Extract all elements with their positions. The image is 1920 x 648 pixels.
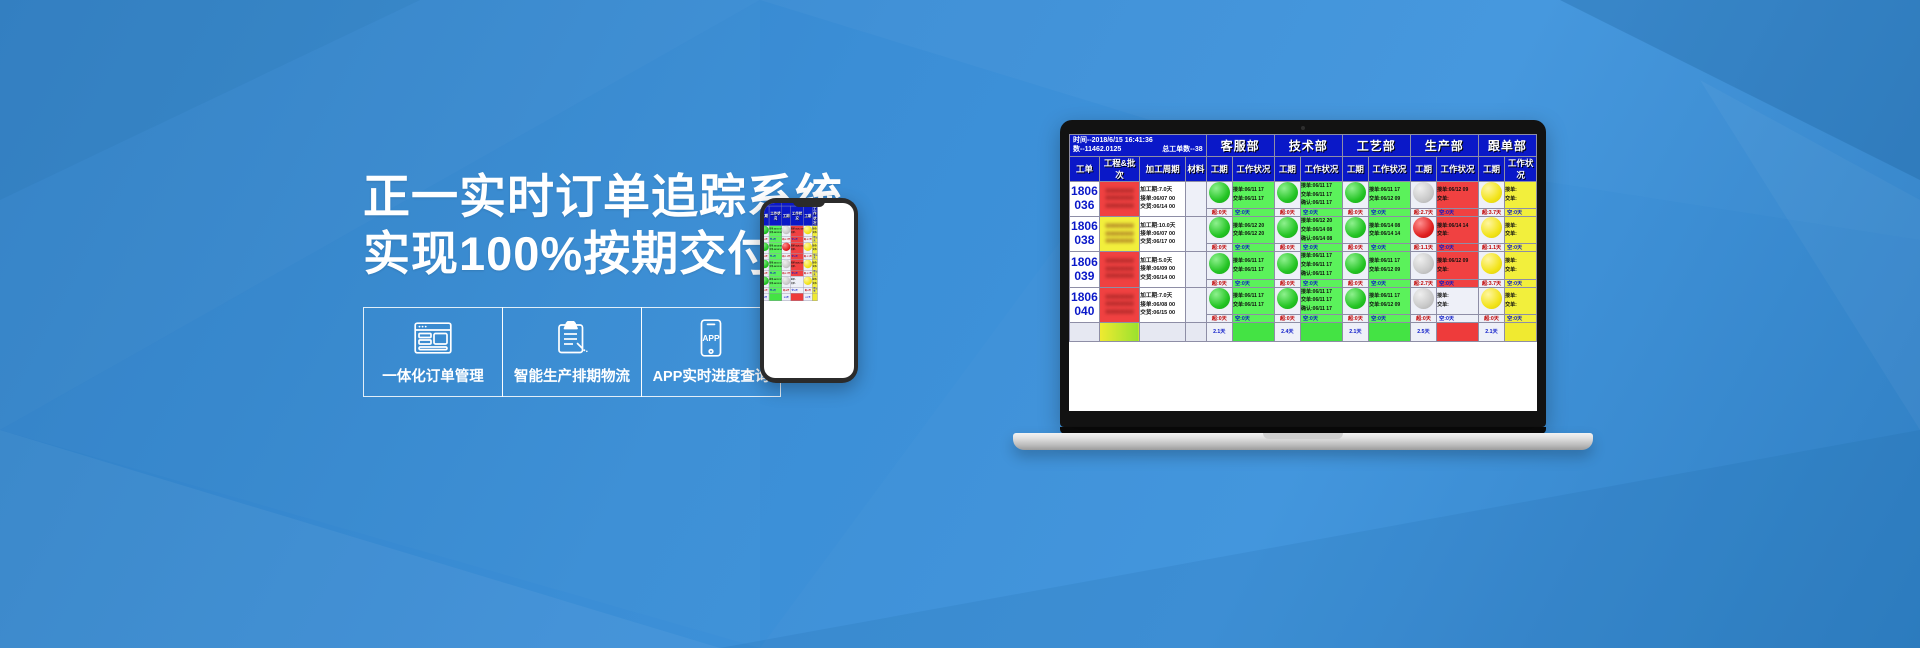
dashboard-column-headers: 工单工程&批次加工周期材料工期工作状况工期工作状况工期工作状况工期工作状况工期工… <box>1070 156 1537 181</box>
duration-cell-生产部[interactable] <box>782 243 791 254</box>
cycle-line-1: 接单:06/08 00 <box>1140 301 1185 309</box>
status-dot-green <box>1345 217 1366 238</box>
duration-cell-跟单部[interactable] <box>1478 252 1504 279</box>
processing-cycle-cell: 加工期:10.0天接单:06/07 00交货:06/17 00 <box>1140 217 1186 252</box>
idle-stat-工艺部: 空:0天 <box>1369 314 1411 322</box>
work-order-line1: 1806 <box>1070 256 1099 270</box>
status-dot-yellow <box>1481 253 1502 274</box>
footer-bar-7 <box>1301 322 1343 341</box>
overdue-stat-跟单部: 超:0天 <box>1478 314 1504 322</box>
idle-stat-技术部: 空:0天 <box>1301 279 1343 287</box>
status-dot-green <box>1277 217 1298 238</box>
cycle-line-1: 接单:06/09 00 <box>1140 265 1185 273</box>
cycle-line-2: 交货:06/15 00 <box>1140 309 1185 317</box>
status-note-1: 交单: <box>1505 195 1536 204</box>
duration-cell-客服部[interactable] <box>1206 217 1232 244</box>
work-status-cell-生产部[interactable]: 接单:交单: <box>791 276 804 287</box>
status-note-1: 交单: <box>1505 230 1536 239</box>
dashboard-footer-bars: 2.1天 2.4天 2.1天 2.5天 2.1天 <box>1070 322 1537 341</box>
project-batch-text: ▨▨▨▨▨▨▨▨▨▨▨▨▨▨▨▨▨▨ <box>1100 258 1139 281</box>
idle-stat-跟单部: 空:0天 <box>1505 209 1537 217</box>
col-header-跟单部-工期[interactable]: 工期 <box>804 206 813 226</box>
overdue-stat-工艺部: 超:0天 <box>1342 244 1368 252</box>
status-dot-yellow <box>1481 182 1502 203</box>
duration-cell-技术部[interactable] <box>1274 287 1300 314</box>
material-cell[interactable] <box>1186 252 1207 287</box>
status-dot-green <box>1345 288 1366 309</box>
footer-bar-5 <box>1232 322 1274 341</box>
dashboard-topbar: 时间--2018/6/15 16:41:36数--11462.0125总工单数-… <box>1070 135 1537 157</box>
col-header-生产部-工期[interactable]: 工期 <box>1410 156 1436 181</box>
status-note-1: 交单:06/11 17 <box>1301 261 1342 270</box>
status-note-1: 交单: <box>1437 230 1478 239</box>
work-status-cell-生产部[interactable]: 接单:06/12 09交单: <box>1437 181 1479 208</box>
work-status-cell-跟单部[interactable]: 接单:交单: <box>812 243 817 254</box>
status-note-0: 接单:06/14 08 <box>1369 222 1410 231</box>
footer-bar-11 <box>791 293 804 301</box>
idle-stat-客服部: 空:0天 <box>1232 314 1274 322</box>
col-header-1[interactable]: 工程&批次 <box>1099 156 1139 181</box>
work-status-cell-客服部[interactable]: 接单:06/11 17交单:06/11 17 <box>1232 287 1274 314</box>
phone-screen: 时间--2018/6/15 16:41:36数--11462.0125总工单数-… <box>764 203 854 378</box>
status-note-1: 交单:06/12 09 <box>769 265 781 269</box>
status-note-0: 接单:06/11 17 <box>1233 257 1274 266</box>
status-note-1: 交单: <box>813 248 818 252</box>
work-order-line2: 038 <box>1070 234 1099 248</box>
project-batch-text: ▨▨▨▨▨▨▨▨▨▨▨▨▨▨▨▨▨▨ <box>1100 188 1139 211</box>
table-row[interactable]: 1806040▨▨▨▨▨▨▨▨▨▨▨▨▨▨▨▨▨▨加工期:7.0天接单:06/0… <box>1070 287 1537 314</box>
status-note-1: 交单:06/11 17 <box>1233 266 1274 275</box>
footer-bar-10: 2.5天 <box>1410 322 1436 341</box>
cycle-line-1: 接单:06/07 00 <box>1140 195 1185 203</box>
status-note-0: 接单:06/11 17 <box>1233 292 1274 301</box>
work-status-cell-跟单部[interactable]: 接单:交单: <box>1505 252 1537 279</box>
status-dot-green <box>1277 182 1298 203</box>
status-note-1: 交单:06/14 14 <box>769 248 781 252</box>
dashboard-table-phone: 时间--2018/6/15 16:41:36数--11462.0125总工单数-… <box>764 203 818 301</box>
status-note-0: 接单:06/12 09 <box>1437 186 1478 195</box>
laptop-base <box>1013 433 1593 450</box>
work-status-cell-技术部[interactable]: 接单:06/11 17交单:06/11 17确认:06/11 17 <box>1301 252 1343 279</box>
status-note-1: 交单:06/11 17 <box>1301 191 1342 200</box>
status-note-0: 接单: <box>1437 292 1478 301</box>
status-note-0: 接单:06/11 17 <box>1369 257 1410 266</box>
dashboard-column-headers: 工单工程&批次加工周期材料工期工作状况工期工作状况工期工作状况工期工作状况工期工… <box>764 206 817 226</box>
duration-cell-工艺部[interactable] <box>1342 252 1368 279</box>
status-note-1: 交单: <box>813 265 818 269</box>
work-status-cell-跟单部[interactable]: 接单:交单: <box>1505 181 1537 208</box>
processing-cycle-cell: 加工期:7.0天接单:06/07 00交货:06/14 00 <box>1140 181 1186 216</box>
status-note-1: 交单: <box>791 231 803 235</box>
status-note-0: 接单:06/12 20 <box>1301 217 1342 226</box>
dept-header-0: 客服部 <box>1206 135 1274 157</box>
device-mockups: 时间--2018/6/15 16:41:36数--11462.0125总工单数-… <box>900 120 1920 540</box>
duration-cell-客服部[interactable] <box>1206 252 1232 279</box>
status-dot-green <box>764 243 769 251</box>
laptop-lid: 时间--2018/6/15 16:41:36数--11462.0125总工单数-… <box>1060 120 1546 427</box>
col-header-工艺部-工作状况[interactable]: 工作状况 <box>1369 156 1411 181</box>
duration-cell-跟单部[interactable] <box>1478 287 1504 314</box>
col-header-生产部-工作状况[interactable]: 工作状况 <box>791 206 804 226</box>
col-header-客服部-工期[interactable]: 工期 <box>1206 156 1232 181</box>
cycle-line-1: 接单:06/07 00 <box>1140 230 1185 238</box>
overdue-stat-技术部: 超:0天 <box>1274 279 1300 287</box>
status-dot-yellow <box>804 243 812 251</box>
meta-total: 总工单数--38 <box>1162 145 1202 154</box>
status-note-1: 交单: <box>1437 195 1478 204</box>
status-dot-red <box>1413 217 1434 238</box>
status-note-1: 交单:06/12 09 <box>1369 195 1410 204</box>
overdue-stat-客服部: 超:0天 <box>1206 209 1232 217</box>
duration-cell-生产部[interactable] <box>1410 252 1436 279</box>
status-note-0: 接单: <box>1505 257 1536 266</box>
status-dot-green <box>1345 253 1366 274</box>
duration-cell-技术部[interactable] <box>1274 217 1300 244</box>
duration-cell-生产部[interactable] <box>1410 217 1436 244</box>
footer-bar-1 <box>1099 322 1139 341</box>
footer-bar-6: 2.4天 <box>1274 322 1300 341</box>
status-dot-green <box>1277 288 1298 309</box>
material-cell[interactable] <box>1186 181 1207 216</box>
status-dot-green <box>1209 253 1230 274</box>
footer-bar-13 <box>1505 322 1537 341</box>
status-note-0: 接单:06/11 17 <box>1301 182 1342 191</box>
col-header-3[interactable]: 材料 <box>1186 156 1207 181</box>
col-header-客服部-工作状况[interactable]: 工作状况 <box>1232 156 1274 181</box>
cycle-line-0: 加工期:10.0天 <box>1140 222 1185 230</box>
status-note-2: 确认:06/11 17 <box>1301 270 1342 279</box>
status-note-1: 交单:06/11 17 <box>1301 296 1342 305</box>
work-status-cell-客服部[interactable]: 接单:06/12 20交单:06/12 20 <box>1232 217 1274 244</box>
work-order-cell[interactable]: 1806039 <box>1070 252 1100 287</box>
duration-cell-跟单部[interactable] <box>1478 217 1504 244</box>
work-status-cell-跟单部[interactable]: 接单:交单: <box>812 226 817 237</box>
duration-cell-工艺部[interactable] <box>1342 217 1368 244</box>
work-status-cell-生产部[interactable]: 接单:06/14 14交单: <box>1437 217 1479 244</box>
status-note-1: 交单: <box>1437 266 1478 275</box>
idle-stat-工艺部: 空:0天 <box>1369 279 1411 287</box>
idle-stat-跟单部: 空:0天 <box>1505 314 1537 322</box>
laptop-mockup: 时间--2018/6/15 16:41:36数--11462.0125总工单数-… <box>1060 120 1593 450</box>
work-status-cell-跟单部[interactable]: 接单:交单: <box>812 259 817 270</box>
col-header-生产部-工期[interactable]: 工期 <box>782 206 791 226</box>
laptop-trackpad-notch <box>1263 433 1343 439</box>
status-note-2: 确认:06/14 08 <box>1301 235 1342 244</box>
status-dot-yellow <box>1481 288 1502 309</box>
work-status-cell-跟单部[interactable]: 接单:交单: <box>1505 217 1537 244</box>
table-row[interactable]: 1806039▨▨▨▨▨▨▨▨▨▨▨▨▨▨▨▨▨▨加工期:5.0天接单:06/0… <box>764 259 817 270</box>
phone-dashboard[interactable]: 时间--2018/6/15 16:41:36数--11462.0125总工单数-… <box>764 203 818 301</box>
dept-header-4: 跟单部 <box>1478 135 1536 157</box>
status-note-0: 接单: <box>1505 186 1536 195</box>
duration-cell-跟单部[interactable] <box>1478 181 1504 208</box>
duration-cell-跟单部[interactable] <box>804 243 813 254</box>
feature-order-management[interactable]: 一体化订单管理 <box>363 307 503 397</box>
idle-stat-工艺部: 空:0天 <box>1369 244 1411 252</box>
overdue-stat-客服部: 超:0天 <box>1206 314 1232 322</box>
overdue-stat-跟单部: 超:3.7天 <box>1478 209 1504 217</box>
duration-cell-生产部[interactable] <box>782 259 791 270</box>
footer-bar-11 <box>1437 322 1479 341</box>
work-status-cell-客服部[interactable]: 接单:06/11 17交单:06/11 17 <box>1232 181 1274 208</box>
status-dot-grey <box>1413 182 1434 203</box>
cycle-line-2: 交货:06/14 00 <box>1140 203 1185 211</box>
idle-stat-技术部: 空:0天 <box>1301 209 1343 217</box>
work-status-cell-工艺部[interactable]: 接单:06/14 08交单:06/14 14 <box>1369 217 1411 244</box>
work-status-cell-跟单部[interactable]: 接单:交单: <box>812 276 817 287</box>
overdue-stat-生产部: 超:2.7天 <box>1410 209 1436 217</box>
footer-bar-0 <box>1070 322 1100 341</box>
material-cell[interactable] <box>1186 217 1207 252</box>
overdue-stat-客服部: 超:0天 <box>1206 279 1232 287</box>
work-status-cell-客服部[interactable]: 接单:06/11 17交单:06/11 17 <box>1232 252 1274 279</box>
idle-stat-跟单部: 空:0天 <box>1505 279 1537 287</box>
work-order-line2: 036 <box>1070 199 1099 213</box>
project-batch-cell[interactable]: ▨▨▨▨▨▨▨▨▨▨▨▨▨▨▨▨▨▨ <box>1099 181 1139 216</box>
dashboard-footer-bars: 2.1天 2.4天 2.1天 2.5天 2.1天 <box>764 293 817 301</box>
status-note-0: 接单:06/12 09 <box>1437 257 1478 266</box>
work-status-cell-工艺部[interactable]: 接单:06/14 08交单:06/14 14 <box>769 243 782 254</box>
overdue-stat-技术部: 超:0天 <box>1274 314 1300 322</box>
work-order-cell[interactable]: 1806040 <box>1070 287 1100 322</box>
duration-cell-跟单部[interactable] <box>804 276 813 287</box>
footer-bar-3 <box>1186 322 1207 341</box>
status-dot-grey <box>1413 253 1434 274</box>
idle-stat-跟单部: 空:0天 <box>1505 244 1537 252</box>
status-note-1: 交单:06/12 20 <box>1233 230 1274 239</box>
status-note-1: 交单: <box>791 265 803 269</box>
duration-cell-工艺部[interactable] <box>1342 287 1368 314</box>
phone-mockup: 时间--2018/6/15 16:41:36数--11462.0125总工单数-… <box>760 198 858 383</box>
duration-cell-工艺部[interactable] <box>1342 181 1368 208</box>
col-header-生产部-工作状况[interactable]: 工作状况 <box>1437 156 1479 181</box>
overdue-stat-客服部: 超:0天 <box>1206 244 1232 252</box>
work-status-cell-技术部[interactable]: 接单:06/12 20交单:06/14 08确认:06/14 08 <box>1301 217 1343 244</box>
dept-header-3: 生产部 <box>1410 135 1478 157</box>
work-order-cell[interactable]: 1806038 <box>1070 217 1100 252</box>
meta-time: 时间--2018/6/15 16:41:36 <box>1073 136 1203 145</box>
work-status-cell-生产部[interactable]: 接单:06/12 09交单: <box>1437 252 1479 279</box>
idle-stat-生产部: 空:0天 <box>1437 244 1479 252</box>
feature-label: APP实时进度查询 <box>653 365 770 386</box>
status-dot-grey <box>1413 288 1434 309</box>
col-header-工艺部-工作状况[interactable]: 工作状况 <box>769 206 782 226</box>
status-note-0: 接单:06/11 17 <box>1301 288 1342 297</box>
work-status-cell-生产部[interactable]: 接单:06/14 14交单: <box>791 243 804 254</box>
duration-cell-跟单部[interactable] <box>804 259 813 270</box>
status-note-1: 交单:06/11 17 <box>1233 301 1274 310</box>
table-row[interactable]: 1806039▨▨▨▨▨▨▨▨▨▨▨▨▨▨▨▨▨▨加工期:5.0天接单:06/0… <box>1070 252 1537 279</box>
table-row[interactable]: 1806038▨▨▨▨▨▨▨▨▨▨▨▨▨▨▨▨▨▨加工期:10.0天接单:06/… <box>1070 217 1537 244</box>
webcam-icon <box>1301 126 1305 130</box>
feature-smart-scheduling[interactable]: 智能生产排期物流 <box>502 307 642 397</box>
idle-stat-生产部: 空:0天 <box>1437 314 1479 322</box>
status-dot-green <box>1345 182 1366 203</box>
status-note-2: 确认:06/11 17 <box>1301 305 1342 314</box>
footer-bar-4: 2.1天 <box>1206 322 1232 341</box>
status-note-1: 交单: <box>1437 301 1478 310</box>
meta-number: 数--11462.0125总工单数--38 <box>1073 145 1203 154</box>
work-status-cell-技术部[interactable]: 接单:06/11 17交单:06/11 17确认:06/11 17 <box>1301 287 1343 314</box>
work-order-line1: 1806 <box>1070 185 1099 199</box>
col-header-2[interactable]: 加工周期 <box>1140 156 1186 181</box>
col-header-0[interactable]: 工单 <box>1070 156 1100 181</box>
processing-cycle-cell: 加工期:7.0天接单:06/08 00交货:06/15 00 <box>1140 287 1186 322</box>
status-note-1: 交单: <box>791 248 803 252</box>
overdue-stat-跟单部: 超:1.1天 <box>1478 244 1504 252</box>
idle-stat-工艺部: 空:0天 <box>1369 209 1411 217</box>
work-status-cell-工艺部[interactable]: 接单:06/11 17交单:06/12 09 <box>1369 252 1411 279</box>
overdue-stat-生产部: 超:1.1天 <box>1410 244 1436 252</box>
status-note-0: 接单: <box>1505 222 1536 231</box>
footer-bar-2 <box>1140 322 1186 341</box>
processing-cycle-cell: 加工期:5.0天接单:06/09 00交货:06/14 00 <box>1140 252 1186 287</box>
overdue-stat-工艺部: 超:0天 <box>1342 209 1368 217</box>
work-status-cell-工艺部[interactable]: 接单:06/11 17交单:06/12 09 <box>769 259 782 270</box>
project-batch-text: ▨▨▨▨▨▨▨▨▨▨▨▨▨▨▨▨▨▨ <box>1100 294 1139 317</box>
status-note-1: 交单: <box>791 282 803 286</box>
phone-notch <box>793 200 825 207</box>
duration-cell-生产部[interactable] <box>1410 181 1436 208</box>
work-status-cell-生产部[interactable]: 接单:交单: <box>1437 287 1479 314</box>
work-status-cell-跟单部[interactable]: 接单:交单: <box>1505 287 1537 314</box>
status-dot-green <box>1209 217 1230 238</box>
status-note-1: 交单:06/14 14 <box>1369 230 1410 239</box>
status-note-0: 接单:06/11 17 <box>1301 252 1342 261</box>
work-status-cell-生产部[interactable]: 接单:06/12 09交单: <box>791 259 804 270</box>
status-dot-green <box>1209 182 1230 203</box>
dashboard-meta: 时间--2018/6/15 16:41:36数--11462.0125总工单数-… <box>1070 135 1207 157</box>
footer-bar-13 <box>812 293 817 301</box>
status-note-1: 交单:06/12 09 <box>769 282 781 286</box>
cycle-line-2: 交货:06/17 00 <box>1140 238 1185 246</box>
col-header-跟单部-工期[interactable]: 工期 <box>1478 156 1504 181</box>
duration-cell-生产部[interactable] <box>1410 287 1436 314</box>
col-header-技术部-工作状况[interactable]: 工作状况 <box>1301 156 1343 181</box>
status-dot-yellow <box>1481 217 1502 238</box>
project-batch-cell[interactable]: ▨▨▨▨▨▨▨▨▨▨▨▨▨▨▨▨▨▨ <box>1099 287 1139 322</box>
idle-stat-生产部: 空:0天 <box>1437 279 1479 287</box>
footer-bar-12: 2.1天 <box>1478 322 1504 341</box>
status-dot-yellow <box>804 277 812 285</box>
feature-label: 智能生产排期物流 <box>514 365 630 386</box>
material-cell[interactable] <box>1186 287 1207 322</box>
idle-stat-生产部: 空:0天 <box>1437 209 1479 217</box>
status-dot-grey <box>782 277 790 285</box>
status-note-0: 接单:06/11 17 <box>1233 186 1274 195</box>
status-note-0: 接单:06/14 14 <box>1437 222 1478 231</box>
idle-stat-客服部: 空:0天 <box>1232 279 1274 287</box>
table-row[interactable]: 1806036▨▨▨▨▨▨▨▨▨▨▨▨▨▨▨▨▨▨加工期:7.0天接单:06/0… <box>764 226 817 237</box>
idle-stat-技术部: 空:0天 <box>1301 244 1343 252</box>
laptop-screen: 时间--2018/6/15 16:41:36数--11462.0125总工单数-… <box>1069 134 1537 411</box>
duration-cell-技术部[interactable] <box>1274 181 1300 208</box>
cycle-line-0: 加工期:7.0天 <box>1140 292 1185 300</box>
overdue-stat-工艺部: 超:0天 <box>1342 279 1368 287</box>
footer-bar-9 <box>1369 322 1411 341</box>
status-dot-green <box>1277 253 1298 274</box>
status-note-0: 接单:06/11 17 <box>1369 186 1410 195</box>
status-dot-green <box>764 260 769 268</box>
dashboard-table-laptop: 时间--2018/6/15 16:41:36数--11462.0125总工单数-… <box>1069 134 1537 342</box>
laptop-dashboard[interactable]: 时间--2018/6/15 16:41:36数--11462.0125总工单数-… <box>1069 134 1537 342</box>
status-note-1: 交单: <box>1505 266 1536 275</box>
overdue-stat-生产部: 超:0天 <box>1410 314 1436 322</box>
table-row[interactable]: 1806040▨▨▨▨▨▨▨▨▨▨▨▨▨▨▨▨▨▨加工期:7.0天接单:06/0… <box>764 276 817 287</box>
work-status-cell-技术部[interactable]: 接单:06/11 17交单:06/11 17确认:06/11 17 <box>1301 181 1343 208</box>
col-header-跟单部-工作状况[interactable]: 工作状况 <box>1505 156 1537 181</box>
work-status-cell-工艺部[interactable]: 接单:06/11 17交单:06/12 09 <box>1369 181 1411 208</box>
footer-bar-12: 2.1天 <box>804 293 813 301</box>
status-dot-grey <box>782 226 790 234</box>
status-note-1: 交单: <box>813 282 818 286</box>
work-order-cell[interactable]: 1806036 <box>1070 181 1100 216</box>
status-note-1: 交单: <box>1505 301 1536 310</box>
status-dot-yellow <box>804 226 812 234</box>
col-header-技术部-工期[interactable]: 工期 <box>1274 156 1300 181</box>
feature-label: 一体化订单管理 <box>382 365 484 386</box>
status-note-1: 交单:06/12 09 <box>1369 266 1410 275</box>
overdue-stat-技术部: 超:0天 <box>1274 244 1300 252</box>
cycle-line-0: 加工期:7.0天 <box>1140 186 1185 194</box>
work-status-cell-工艺部[interactable]: 接单:06/11 17交单:06/12 09 <box>1369 287 1411 314</box>
duration-cell-生产部[interactable] <box>782 276 791 287</box>
footer-bar-10: 2.5天 <box>782 293 791 301</box>
status-dot-green <box>764 277 769 285</box>
col-header-工艺部-工期[interactable]: 工期 <box>1342 156 1368 181</box>
cycle-line-2: 交货:06/14 00 <box>1140 274 1185 282</box>
status-note-1: 交单:06/12 09 <box>1369 301 1410 310</box>
footer-bar-9 <box>769 293 782 301</box>
app-badge-text: APP <box>702 333 720 343</box>
overdue-stat-跟单部: 超:3.7天 <box>1478 279 1504 287</box>
order-management-icon <box>414 318 452 358</box>
status-note-0: 接单:06/12 20 <box>1233 222 1274 231</box>
overdue-stat-技术部: 超:0天 <box>1274 209 1300 217</box>
idle-stat-客服部: 空:0天 <box>1232 209 1274 217</box>
status-note-2: 确认:06/11 17 <box>1301 199 1342 208</box>
idle-stat-技术部: 空:0天 <box>1301 314 1343 322</box>
table-row[interactable]: 1806036▨▨▨▨▨▨▨▨▨▨▨▨▨▨▨▨▨▨加工期:7.0天接单:06/0… <box>1070 181 1537 208</box>
work-order-line1: 1806 <box>1070 220 1099 234</box>
status-note-0: 接单: <box>1505 292 1536 301</box>
work-status-cell-生产部[interactable]: 接单:06/12 09交单: <box>791 226 804 237</box>
project-batch-cell[interactable]: ▨▨▨▨▨▨▨▨▨▨▨▨▨▨▨▨▨▨ <box>1099 252 1139 287</box>
work-status-cell-工艺部[interactable]: 接单:06/11 17交单:06/12 09 <box>769 276 782 287</box>
status-dot-green <box>764 226 769 234</box>
col-header-跟单部-工作状况[interactable]: 工作状况 <box>812 206 817 226</box>
duration-cell-客服部[interactable] <box>1206 181 1232 208</box>
status-note-0: 接单:06/11 17 <box>1369 292 1410 301</box>
project-batch-text: ▨▨▨▨▨▨▨▨▨▨▨▨▨▨▨▨▨▨ <box>1100 223 1139 246</box>
status-note-1: 交单:06/11 17 <box>1233 195 1274 204</box>
clipboard-schedule-icon <box>556 318 588 358</box>
duration-cell-客服部[interactable] <box>1206 287 1232 314</box>
status-dot-yellow <box>804 260 812 268</box>
mobile-app-icon: APP <box>698 318 724 358</box>
project-batch-cell[interactable]: ▨▨▨▨▨▨▨▨▨▨▨▨▨▨▨▨▨▨ <box>1099 217 1139 252</box>
dept-header-1: 技术部 <box>1274 135 1342 157</box>
work-status-cell-工艺部[interactable]: 接单:06/11 17交单:06/12 09 <box>769 226 782 237</box>
duration-cell-生产部[interactable] <box>782 226 791 237</box>
status-dot-red <box>782 243 790 251</box>
status-note-1: 交单:06/14 08 <box>1301 226 1342 235</box>
duration-cell-跟单部[interactable] <box>804 226 813 237</box>
duration-cell-技术部[interactable] <box>1274 252 1300 279</box>
status-note-1: 交单: <box>813 231 818 235</box>
status-note-1: 交单:06/12 09 <box>769 231 781 235</box>
table-row[interactable]: 1806038▨▨▨▨▨▨▨▨▨▨▨▨▨▨▨▨▨▨加工期:10.0天接单:06/… <box>764 243 817 254</box>
